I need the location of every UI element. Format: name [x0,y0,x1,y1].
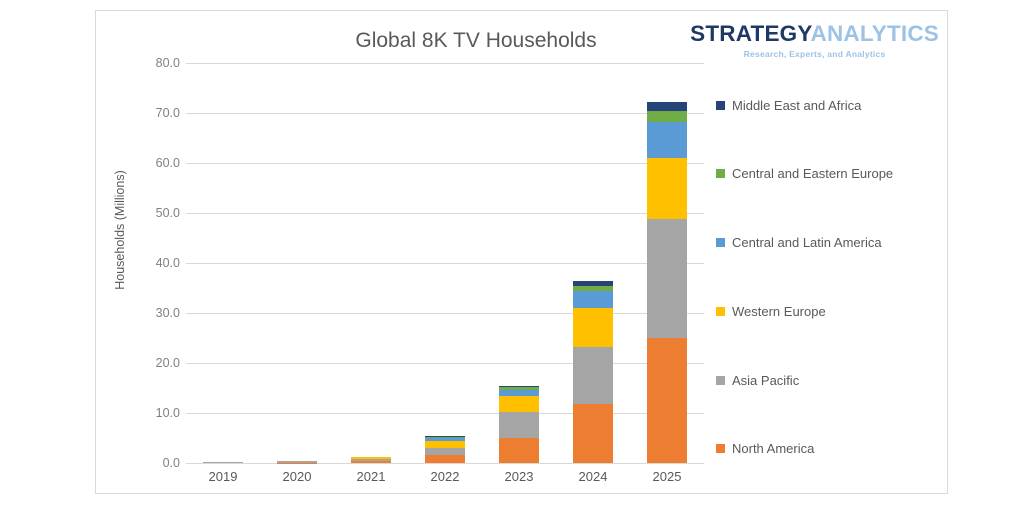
bar-segment[interactable] [647,122,687,158]
bar-segment[interactable] [499,438,539,463]
y-axis-tick-label: 10.0 [118,406,180,420]
bar-column[interactable] [277,63,317,463]
gridline [186,463,704,464]
legend-item-label: Central and Eastern Europe [732,166,893,181]
legend-swatch-icon [716,169,725,178]
bar-segment[interactable] [573,308,613,347]
bar-segment[interactable] [647,219,687,338]
stacked-bar[interactable] [573,281,613,464]
bar-column[interactable] [351,63,391,463]
y-axis-tick-label: 20.0 [118,356,180,370]
y-axis-tick-label: 70.0 [118,106,180,120]
bar-segment[interactable] [647,111,687,122]
y-axis-tick-label: 80.0 [118,56,180,70]
legend-swatch-icon [716,101,725,110]
bar-column[interactable] [203,63,243,463]
y-axis-tick-label: 40.0 [118,256,180,270]
legend-item[interactable]: Asia Pacific [716,372,944,388]
y-axis-ticks: 0.010.020.030.040.050.060.070.080.0 [118,63,180,463]
legend-item[interactable]: North America [716,441,944,457]
bar-segment[interactable] [499,396,539,412]
bar-segment[interactable] [425,441,465,449]
legend-swatch-icon [716,376,725,385]
legend-swatch-icon [716,307,725,316]
stacked-bar[interactable] [351,457,391,464]
bar-segment[interactable] [647,102,687,111]
bar-segment[interactable] [573,404,613,463]
y-axis-tick-label: 0.0 [118,456,180,470]
legend-item-label: Central and Latin America [732,235,882,250]
legend-item-label: Middle East and Africa [732,98,861,113]
bar-column[interactable] [425,63,465,463]
x-axis-tick-label: 2024 [573,469,613,484]
legend-item[interactable]: Central and Eastern Europe [716,166,944,182]
bar-column[interactable] [573,63,613,463]
bars-container [186,63,704,463]
bar-segment[interactable] [203,462,243,463]
bar-segment[interactable] [425,455,465,464]
x-axis-tick-label: 2020 [277,469,317,484]
legend-swatch-icon [716,238,725,247]
x-axis-tick-label: 2022 [425,469,465,484]
x-axis-tick-label: 2023 [499,469,539,484]
legend-swatch-icon [716,444,725,453]
bar-segment[interactable] [499,412,539,438]
y-axis-tick-label: 30.0 [118,306,180,320]
bar-segment[interactable] [647,338,687,463]
bar-segment[interactable] [573,291,613,308]
bar-segment[interactable] [573,347,613,405]
legend-item[interactable]: Central and Latin America [716,235,944,251]
x-axis-labels: 2019202020212022202320242025 [186,469,704,484]
x-axis-tick-label: 2019 [203,469,243,484]
y-axis-tick-label: 60.0 [118,156,180,170]
bar-segment[interactable] [647,158,687,220]
x-axis-tick-label: 2021 [351,469,391,484]
stacked-bar[interactable] [425,436,465,463]
legend-item-label: Asia Pacific [732,373,799,388]
chart-card: Global 8K TV Households STRATEGYANALYTIC… [95,10,948,494]
chart-legend: Middle East and AfricaCentral and Easter… [716,97,944,457]
legend-item[interactable]: Middle East and Africa [716,97,944,113]
legend-item-label: North America [732,441,814,456]
bar-column[interactable] [499,63,539,463]
bar-column[interactable] [647,63,687,463]
y-axis-tick-label: 50.0 [118,206,180,220]
legend-item-label: Western Europe [732,304,826,319]
stacked-bar[interactable] [203,462,243,463]
x-axis-tick-label: 2025 [647,469,687,484]
legend-item[interactable]: Western Europe [716,303,944,319]
bar-segment[interactable] [351,461,391,463]
stacked-bar[interactable] [499,386,539,464]
stacked-bar[interactable] [277,461,317,463]
stacked-bar[interactable] [647,102,687,464]
